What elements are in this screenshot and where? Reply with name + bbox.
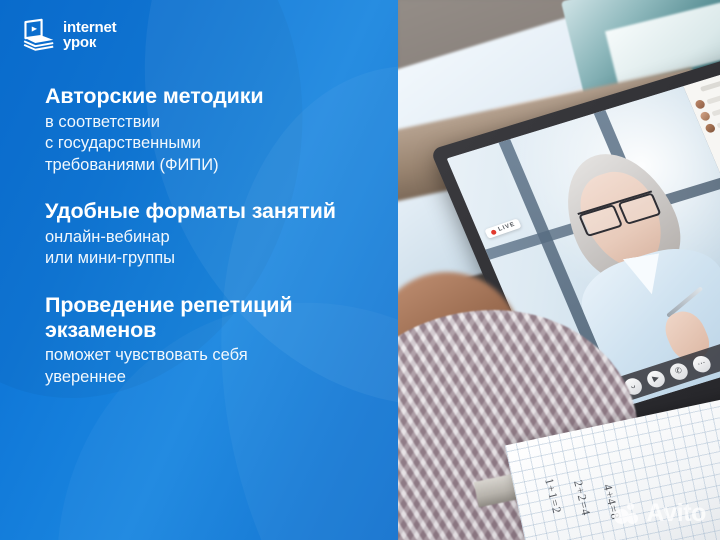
live-dot-icon (490, 228, 497, 234)
feature-subtext-line: увереннее (45, 367, 375, 389)
brand-name-line1: internet (63, 20, 116, 35)
feature-subtext-line: с государственными (45, 133, 375, 155)
feature-subtext-line: в соответствии (45, 112, 375, 134)
feature-block: Авторские методики в соответствии с госу… (45, 84, 375, 176)
feature-heading: Проведение репетиций экзаменов (45, 293, 375, 342)
feature-heading: Авторские методики (45, 84, 375, 109)
feature-subtext: поможет чувствовать себя увереннее (45, 345, 375, 388)
blue-info-panel: internet урок Авторские методики в соотв… (0, 0, 398, 540)
ad-banner: LIVE ᴗ ▶ ✆ ⋯ (0, 0, 720, 540)
chat-title-bar (700, 78, 720, 92)
feature-subtext-line: или мини-группы (45, 248, 375, 270)
photo-area: LIVE ᴗ ▶ ✆ ⋯ (398, 0, 720, 540)
avatar (704, 123, 716, 134)
avito-circles-icon (614, 503, 640, 525)
more-options-icon[interactable]: ⋯ (690, 353, 713, 374)
feature-subtext-line: поможет чувствовать себя (45, 345, 375, 367)
feature-subtext: онлайн-вебинар или мини-группы (45, 227, 375, 270)
feature-subtext: в соответствии с государственными требов… (45, 112, 375, 177)
avatar (694, 99, 706, 110)
feature-block: Удобные форматы занятий онлайн-вебинар и… (45, 199, 375, 270)
video-camera-icon[interactable]: ▶ (644, 368, 667, 389)
feature-heading: Удобные форматы занятий (45, 199, 375, 224)
avatar (699, 111, 711, 122)
participant-name-bar (706, 87, 720, 104)
feature-block: Проведение репетиций экзаменов поможет ч… (45, 293, 375, 388)
brand-logo[interactable]: internet урок (20, 18, 116, 52)
avito-watermark-label: Avito (646, 501, 706, 526)
feature-subtext-line: онлайн-вебинар (45, 227, 375, 249)
avito-watermark: Avito (614, 501, 706, 526)
laptop-play-icon (20, 18, 56, 52)
brand-name: internet урок (63, 20, 116, 51)
feature-subtext-line: требованиями (ФИПИ) (45, 155, 375, 177)
phone-icon[interactable]: ✆ (667, 361, 690, 382)
feature-blocks: Авторские методики в соответствии с госу… (45, 84, 375, 388)
brand-name-line2: урок (63, 35, 116, 50)
